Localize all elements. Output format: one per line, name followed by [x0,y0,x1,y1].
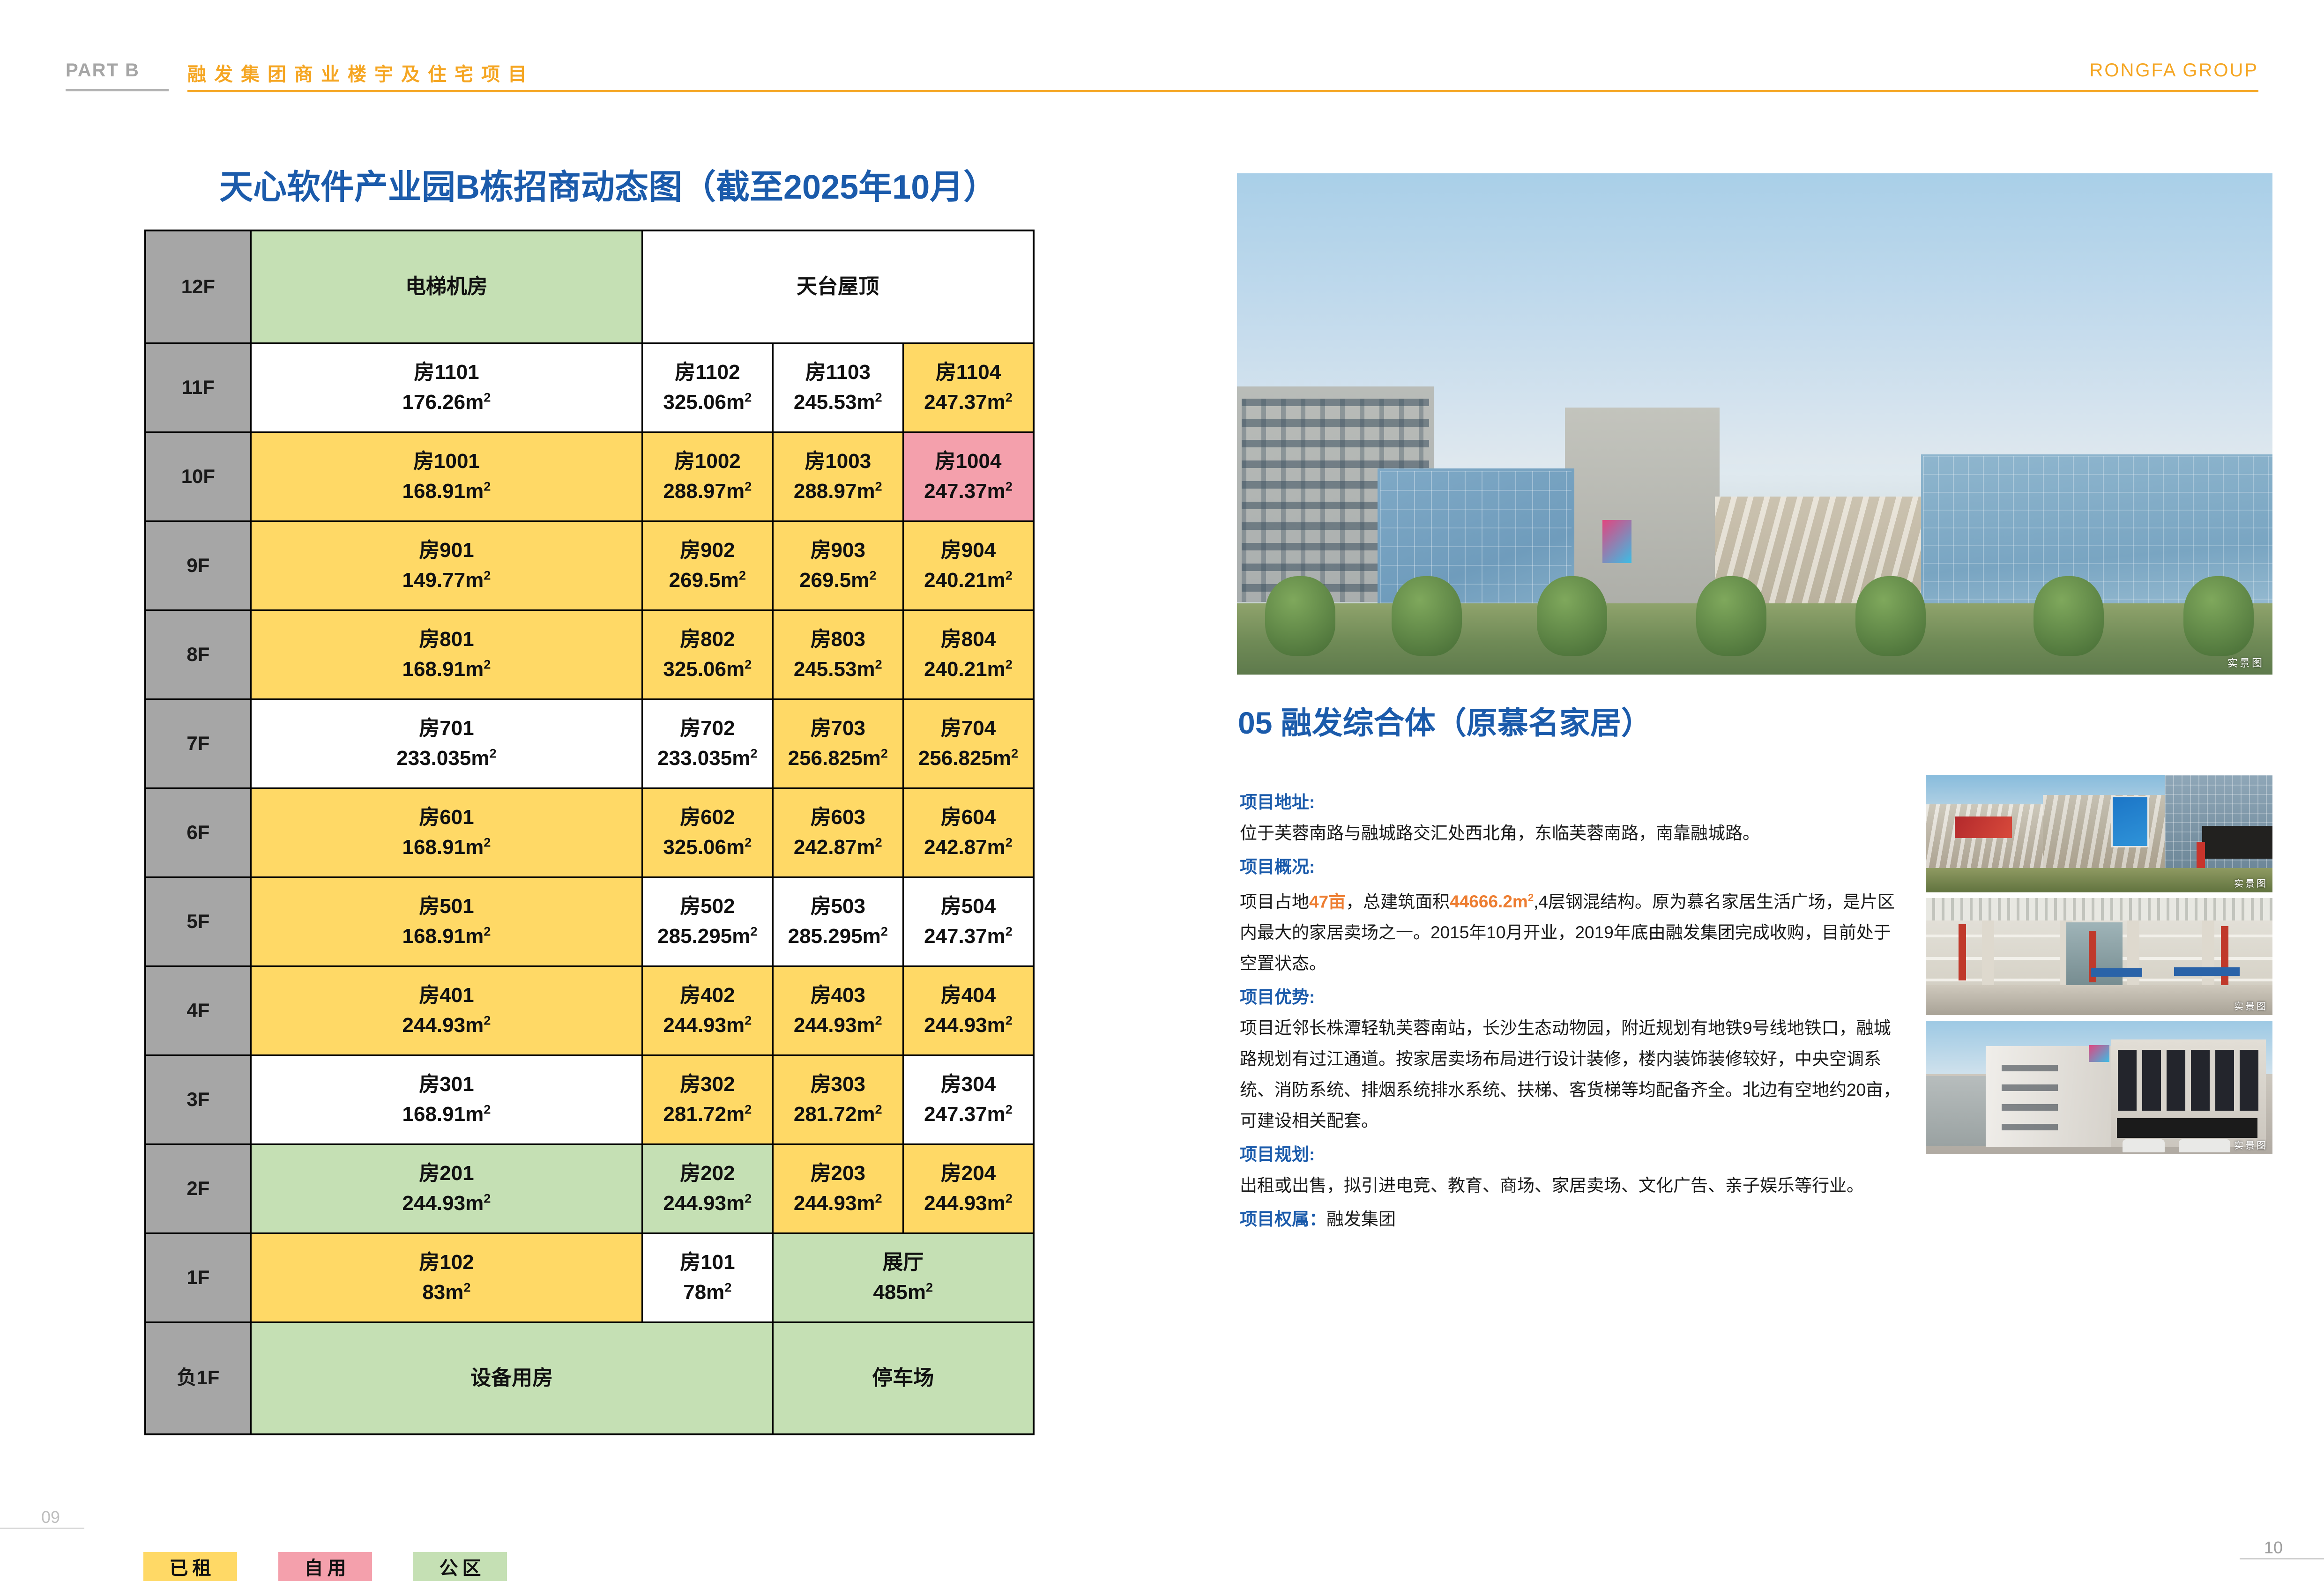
unit-area: 240.21m2 [907,654,1030,684]
floor-label: 10F [145,432,251,521]
description-label: 项目地址: [1240,787,1905,818]
unit-area: 83m2 [254,1277,639,1307]
unit-area: 78m2 [646,1277,769,1307]
table-row: 4F房401244.93m2房402244.93m2房403244.93m2房4… [145,966,1034,1055]
thumb-shopfront [2202,826,2272,859]
unit-cell: 房1104247.37m2 [903,343,1034,432]
unit-cell: 展厅485m2 [773,1233,1034,1322]
legend-item-common: 公区 [413,1552,507,1581]
unit-name: 房702 [646,713,769,743]
unit-name: 房603 [776,802,900,832]
unit-area: 168.91m2 [254,476,639,506]
description-text: 项目占地47亩，总建筑面积44666.2m2,4层钢混结构。原为慕名家居生活广场… [1240,892,1895,973]
unit-cell: 房701233.035m2 [251,699,642,788]
table-row: 负1F设备用房停车场 [145,1322,1034,1434]
thumb-floor [1926,985,2272,1015]
thumb-car [2123,1139,2165,1152]
unit-area: 244.93m2 [907,1188,1030,1218]
description-block: 项目优势:项目近邻长株潭轻轨芙蓉南站，长沙生态动物园，附近规划有地铁9号线地铁口… [1240,982,1905,1136]
unit-area: 288.97m2 [776,476,900,506]
legend-item-rented: 已租 [143,1552,237,1581]
unit-cell: 房1003288.97m2 [773,432,903,521]
description-text: 出租或出售，拟引进电竞、教育、商场、家居卖场、文化广告、亲子娱乐等行业。 [1240,1176,1864,1195]
unit-name: 房401 [254,980,639,1010]
unit-cell: 停车场 [773,1322,1034,1434]
unit-name: 房303 [776,1069,900,1099]
unit-name: 房102 [254,1247,639,1277]
unit-cell: 房801168.91m2 [251,610,642,699]
thumb-column [2202,920,2214,995]
unit-name: 房1003 [776,446,900,476]
hero-tree [2183,576,2254,656]
unit-cell: 房302281.72m2 [642,1055,773,1144]
unit-cell: 房204244.93m2 [903,1144,1034,1233]
unit-area: 149.77m2 [254,565,639,595]
unit-name: 房602 [646,802,769,832]
description-block: 项目地址:位于芙蓉南路与融城路交汇处西北角，东临芙蓉南路，南靠融城路。 [1240,787,1905,849]
floor-label: 5F [145,877,251,966]
hero-tree [1537,576,1607,656]
unit-cell: 房10178m2 [642,1233,773,1322]
unit-area: 281.72m2 [776,1099,900,1129]
hero-signboard [1602,520,1631,563]
unit-area: 269.5m2 [776,565,900,595]
unit-cell: 天台屋顶 [642,230,1034,343]
unit-name: 房902 [646,535,769,565]
unit-name: 房501 [254,891,639,921]
unit-cell: 房1101176.26m2 [251,343,642,432]
floor-label: 11F [145,343,251,432]
unit-name: 房502 [646,891,769,921]
unit-cell: 房401244.93m2 [251,966,642,1055]
unit-cell: 房1103245.53m2 [773,343,903,432]
unit-cell: 房704256.825m2 [903,699,1034,788]
floor-label: 1F [145,1233,251,1322]
unit-name: 房504 [907,891,1030,921]
unit-name: 天台屋顶 [646,272,1030,302]
unit-area: 244.93m2 [646,1188,769,1218]
unit-area: 485m2 [776,1277,1030,1307]
unit-area: 247.37m2 [907,921,1030,951]
table-row: 7F房701233.035m2房702233.035m2房703256.825m… [145,699,1034,788]
unit-area: 288.97m2 [646,476,769,506]
legend-item-self: 自用 [278,1552,372,1581]
unit-area: 247.37m2 [907,387,1030,417]
section-heading-cn: 融发集团商业楼宇及住宅项目 [187,59,535,86]
unit-name: 房1102 [646,357,769,387]
unit-name: 停车场 [776,1363,1030,1393]
thumb-store-sign [2091,968,2142,977]
unit-name: 设备用房 [254,1363,769,1393]
description-block: 项目概况:项目占地47亩，总建筑面积44666.2m2,4层钢混结构。原为慕名家… [1240,852,1905,979]
unit-cell: 房502285.295m2 [642,877,773,966]
unit-name: 房203 [776,1158,900,1188]
table-row: 12F电梯机房天台屋顶 [145,230,1034,343]
hero-building-mid-back [1565,408,1720,609]
unit-name: 电梯机房 [254,272,639,302]
project-description: 项目地址:位于芙蓉南路与融城路交汇处西北角，东临芙蓉南路，南靠融城路。项目概况:… [1240,787,1905,1238]
unit-cell: 房603242.87m2 [773,788,903,877]
unit-cell: 房1002288.97m2 [642,432,773,521]
description-text: 项目近邻长株潭轻轨芙蓉南站，长沙生态动物园，附近规划有地铁9号线地铁口，融城路规… [1240,1018,1900,1130]
description-text: 位于芙蓉南路与融城路交汇处西北角，东临芙蓉南路，南靠融城路。 [1240,824,1760,843]
hero-tree [1265,576,1335,656]
table-row: 5F房501168.91m2房502285.295m2房503285.295m2… [145,877,1034,966]
unit-cell: 房304247.37m2 [903,1055,1034,1144]
unit-area: 325.06m2 [646,654,769,684]
unit-cell: 房10283m2 [251,1233,642,1322]
table-row: 3F房301168.91m2房302281.72m2房303281.72m2房3… [145,1055,1034,1144]
unit-cell: 房901149.77m2 [251,521,642,610]
description-block: 项目权属：融发集团 [1240,1204,1905,1235]
unit-area: 245.53m2 [776,654,900,684]
page-number-rule-right [2240,1558,2324,1559]
unit-name: 房803 [776,624,900,654]
unit-area: 244.93m2 [646,1010,769,1040]
unit-cell: 设备用房 [251,1322,773,1434]
unit-cell: 房604242.87m2 [903,788,1034,877]
unit-cell: 房601168.91m2 [251,788,642,877]
unit-name: 房802 [646,624,769,654]
unit-cell: 房903269.5m2 [773,521,903,610]
description-block: 项目规划:出租或出售，拟引进电竞、教育、商场、家居卖场、文化广告、亲子娱乐等行业… [1240,1139,1905,1201]
unit-cell: 房501168.91m2 [251,877,642,966]
unit-name: 房1103 [776,357,900,387]
thumbnail-corner-building: 实景图 [1926,1021,2272,1154]
unit-name: 房1001 [254,446,639,476]
page-number-right: 10 [2264,1538,2283,1558]
floor-label: 负1F [145,1322,251,1434]
unit-name: 房901 [254,535,639,565]
unit-name: 房701 [254,713,639,743]
unit-cell: 房301168.91m2 [251,1055,642,1144]
left-column: 天心软件产业园B栋招商动态图（截至2025年10月） 12F电梯机房天台屋顶11… [0,141,1162,1546]
unit-cell: 房503285.295m2 [773,877,903,966]
unit-name: 房903 [776,535,900,565]
unit-cell: 电梯机房 [251,230,642,343]
thumb-hanging-banner [2221,926,2228,987]
thumb-brand-sign [2111,796,2149,847]
unit-area: 285.295m2 [646,921,769,951]
thumbnail-gallery: 实景图 实景图 [1926,775,2272,1160]
unit-cell: 房303281.72m2 [773,1055,903,1144]
unit-area: 168.91m2 [254,832,639,862]
unit-area: 240.21m2 [907,565,1030,595]
unit-cell: 房1102325.06m2 [642,343,773,432]
unit-cell: 房201244.93m2 [251,1144,642,1233]
unit-area: 168.91m2 [254,921,639,951]
table-row: 1F房10283m2房10178m2展厅485m2 [145,1233,1034,1322]
thumb-hanging-banner [1959,924,1966,980]
unit-name: 房403 [776,980,900,1010]
unit-area: 244.93m2 [254,1010,639,1040]
hero-tree [1855,576,1926,656]
hero-tree [2033,576,2104,656]
unit-name: 房302 [646,1069,769,1099]
unit-cell: 房404244.93m2 [903,966,1034,1055]
thumb-store-sign [2174,967,2240,976]
unit-cell: 房803245.53m2 [773,610,903,699]
floor-label: 8F [145,610,251,699]
hero-tree [1392,576,1462,656]
unit-cell: 房203244.93m2 [773,1144,903,1233]
unit-name: 房1002 [646,446,769,476]
unit-cell: 房1004247.37m2 [903,432,1034,521]
unit-cell: 房802325.06m2 [642,610,773,699]
unit-area: 245.53m2 [776,387,900,417]
floor-occupancy-table: 12F电梯机房天台屋顶11F房1101176.26m2房1102325.06m2… [144,230,1035,1435]
unit-name: 房202 [646,1158,769,1188]
hero-tree [1696,576,1766,656]
unit-area: 244.93m2 [776,1010,900,1040]
page-title: 天心软件产业园B栋招商动态图（截至2025年10月） [219,159,997,208]
unit-area: 247.37m2 [907,1099,1030,1129]
unit-name: 房1004 [907,446,1030,476]
unit-name: 房604 [907,802,1030,832]
unit-name: 房204 [907,1158,1030,1188]
thumbnail-caption: 实景图 [2234,876,2268,890]
unit-cell: 房904240.21m2 [903,521,1034,610]
unit-cell: 房403244.93m2 [773,966,903,1055]
unit-cell: 房804240.21m2 [903,610,1034,699]
legend: 已租自用公区 [143,1552,507,1581]
unit-area: 244.93m2 [776,1188,900,1218]
thumb-store-signage [2117,1118,2257,1138]
description-label: 项目概况: [1240,852,1905,883]
section-title: 05 融发综合体（原慕名家居） [1238,698,1652,743]
unit-area: 176.26m2 [254,387,639,417]
unit-name: 房801 [254,624,639,654]
unit-name: 房703 [776,713,900,743]
unit-area: 285.295m2 [776,921,900,951]
unit-area: 325.06m2 [646,387,769,417]
unit-name: 房503 [776,891,900,921]
unit-cell: 房504247.37m2 [903,877,1034,966]
thumb-ground [1926,868,2272,892]
description-label: 项目优势: [1240,982,1905,1013]
unit-name: 房1104 [907,357,1030,387]
floor-label: 12F [145,230,251,343]
unit-name: 房601 [254,802,639,832]
unit-name: 房804 [907,624,1030,654]
unit-cell: 房402244.93m2 [642,966,773,1055]
thumb-column [2127,920,2139,995]
table-row: 10F房1001168.91m2房1002288.97m2房1003288.97… [145,432,1034,521]
thumb-billboard [1955,816,2012,838]
hero-photo-caption: 实景图 [2227,655,2264,670]
unit-name: 房404 [907,980,1030,1010]
page-number-rule-left [0,1528,84,1529]
unit-area: 244.93m2 [907,1010,1030,1040]
thumb-skylight [1926,898,2272,920]
unit-name: 房304 [907,1069,1030,1099]
unit-name: 房101 [646,1247,769,1277]
unit-name: 展厅 [776,1247,1030,1277]
thumb-dark-panels [2118,1050,2258,1111]
floor-label: 6F [145,788,251,877]
description-label: 项目规划: [1240,1139,1905,1170]
unit-area: 244.93m2 [254,1188,639,1218]
description-text: 融发集团 [1326,1210,1396,1229]
floor-label: 3F [145,1055,251,1144]
thumb-car [2179,1139,2230,1152]
thumb-logo [2089,1045,2109,1062]
unit-name: 房1101 [254,357,639,387]
unit-name: 房402 [646,980,769,1010]
unit-name: 房201 [254,1158,639,1188]
unit-cell: 房1001168.91m2 [251,432,642,521]
unit-name: 房704 [907,713,1030,743]
unit-area: 242.87m2 [776,832,900,862]
unit-area: 325.06m2 [646,832,769,862]
unit-area: 281.72m2 [646,1099,769,1129]
unit-name: 房904 [907,535,1030,565]
unit-name: 房301 [254,1069,639,1099]
floor-label: 4F [145,966,251,1055]
unit-area: 256.825m2 [907,743,1030,773]
thumbnail-caption: 实景图 [2234,999,2268,1012]
unit-cell: 房902269.5m2 [642,521,773,610]
unit-cell: 房702233.035m2 [642,699,773,788]
thumbnail-atrium-interior: 实景图 [1926,898,2272,1015]
table-row: 8F房801168.91m2房802325.06m2房803245.53m2房8… [145,610,1034,699]
unit-area: 168.91m2 [254,654,639,684]
thumbnail-caption: 实景图 [2234,1138,2268,1151]
unit-area: 233.035m2 [254,743,639,773]
floor-label: 9F [145,521,251,610]
table-row: 6F房601168.91m2房602325.06m2房603242.87m2房6… [145,788,1034,877]
unit-area: 168.91m2 [254,1099,639,1129]
part-label: PART B [66,60,140,81]
table-row: 11F房1101176.26m2房1102325.06m2房1103245.53… [145,343,1034,432]
thumbnail-exterior-mall: 实景图 [1926,775,2272,892]
unit-area: 269.5m2 [646,565,769,595]
floor-label: 2F [145,1144,251,1233]
unit-area: 242.87m2 [907,832,1030,862]
unit-cell: 房202244.93m2 [642,1144,773,1233]
part-divider [66,89,169,91]
unit-area: 256.825m2 [776,743,900,773]
unit-area: 247.37m2 [907,476,1030,506]
thumb-adjacent-building [1926,1076,1991,1146]
table-row: 2F房201244.93m2房202244.93m2房203244.93m2房2… [145,1144,1034,1233]
thumb-column [1982,920,1994,995]
page-number-left: 09 [41,1507,60,1527]
hero-photo: 实景图 [1237,173,2272,675]
right-column: 实景图 05 融发综合体（原慕名家居） 项目地址:位于芙蓉南路与融城路交汇处西北… [1228,0,2324,1576]
table-row: 9F房901149.77m2房902269.5m2房903269.5m2房904… [145,521,1034,610]
unit-area: 233.035m2 [646,743,769,773]
description-label: 项目权属： [1240,1204,1326,1235]
unit-cell: 房703256.825m2 [773,699,903,788]
floor-label: 7F [145,699,251,788]
unit-cell: 房602325.06m2 [642,788,773,877]
